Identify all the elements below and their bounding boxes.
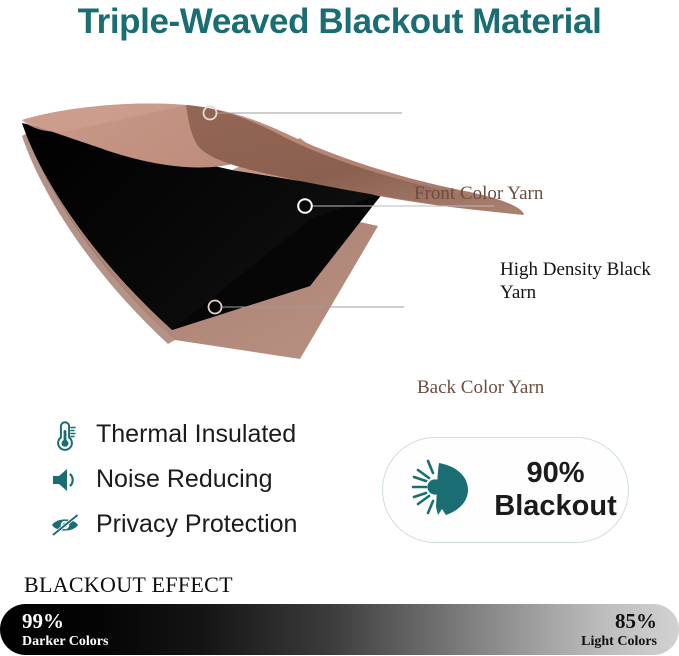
- callout-label-high-density-black-yarn: High Density Black Yarn: [500, 258, 665, 304]
- bar-label-light-colors: 85% Light Colors: [581, 610, 657, 650]
- fabric-layers-diagram: Front Color Yarn High Density Black Yarn…: [0, 78, 679, 368]
- feature-label-noise-reducing: Noise Reducing: [96, 465, 273, 494]
- sun-behind-curtain-icon: [405, 456, 479, 524]
- fabric-layers-illustration: [0, 78, 679, 368]
- callout-label-front-color-yarn: Front Color Yarn: [414, 182, 543, 205]
- bar-caption-light: Light Colors: [581, 633, 657, 650]
- callout-dot-middle: [298, 199, 312, 213]
- badge-text-group: 90% Blackout: [483, 457, 628, 523]
- bar-percent-darker: 99%: [22, 610, 108, 633]
- badge-percent: 90%: [483, 457, 628, 490]
- blackout-effect-gradient-bar: 99% Darker Colors 85% Light Colors: [0, 604, 679, 655]
- blackout-percentage-badge: 90% Blackout: [382, 437, 629, 543]
- callout-label-back-color-yarn: Back Color Yarn: [417, 376, 544, 399]
- feature-item-noise-reducing: Noise Reducing: [46, 457, 376, 502]
- speaker-sound-icon: [46, 461, 86, 499]
- feature-label-privacy-protection: Privacy Protection: [96, 510, 297, 539]
- feature-list: Thermal Insulated Noise Reducing Privacy…: [46, 412, 376, 547]
- bar-percent-light: 85%: [581, 610, 657, 633]
- feature-label-thermal-insulated: Thermal Insulated: [96, 420, 296, 449]
- thermometer-icon: [46, 416, 86, 454]
- blackout-effect-heading: BLACKOUT EFFECT: [24, 572, 233, 598]
- feature-item-thermal-insulated: Thermal Insulated: [46, 412, 376, 457]
- bar-label-darker-colors: 99% Darker Colors: [22, 610, 108, 650]
- page-title: Triple-Weaved Blackout Material: [0, 2, 679, 42]
- badge-word: Blackout: [483, 490, 628, 523]
- eye-slash-icon: [46, 506, 86, 544]
- bar-caption-darker: Darker Colors: [22, 633, 108, 650]
- feature-item-privacy-protection: Privacy Protection: [46, 502, 376, 547]
